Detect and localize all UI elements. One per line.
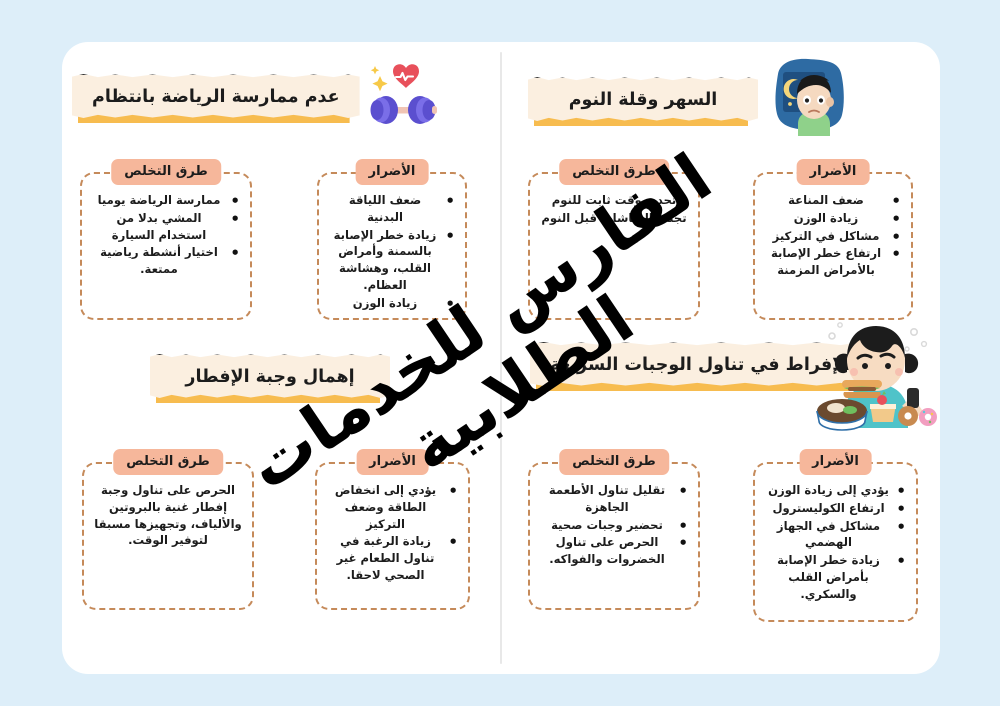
section-breakfast-header: إهمال وجبة الإفطار: [150, 354, 390, 398]
breakfast-fixes-label: طرق التخلص: [113, 449, 223, 475]
fastfood-fixes-label: طرق التخلص: [559, 449, 669, 475]
fastfood-harms-box: الأضرار يؤدي إلى زيادة الوزن ارتفاع الكو…: [753, 462, 918, 622]
fastfood-harms-list: يؤدي إلى زيادة الوزن ارتفاع الكوليسترول …: [765, 482, 906, 603]
sport-harms-list: ضعف اللياقة البدنية زيادة خطر الإصابة با…: [329, 192, 455, 312]
list-item: مشاكل في التركيز: [765, 228, 901, 245]
sleep-fixes-label: طرق التخلص: [559, 159, 669, 185]
list-item: زيادة الرغبة في تناول الطعام غير الصحي ل…: [327, 533, 458, 583]
list-item: ضعف اللياقة البدنية: [329, 192, 455, 226]
breakfast-harms-box: الأضرار يؤدي إلى انخفاض الطاقة وضعف التر…: [315, 462, 470, 610]
list-item: يؤدي إلى زيادة الوزن: [765, 482, 906, 499]
list-item: المشي بدلا من استخدام السيارة: [92, 210, 240, 244]
list-item: زيادة الوزن: [765, 210, 901, 227]
list-item: تقليل تناول الأطعمة الجاهزة: [540, 482, 688, 516]
list-item: ارتفاع الكوليسترول: [765, 500, 906, 517]
sleep-harms-label: الأضرار: [797, 159, 870, 185]
breakfast-harms-label: الأضرار: [356, 449, 429, 475]
section-sleep-header: السهر وقلة النوم: [528, 54, 850, 144]
section-sleep: السهر وقلة النوم طرق التخلص تحديد وقت ثا…: [500, 42, 940, 342]
section-breakfast-title: إهمال وجبة الإفطار: [185, 367, 354, 387]
section-fastfood: الإفراط في تناول الوجبات السريعة: [500, 342, 940, 674]
list-item: تجنب الشاشات قبل النوم: [540, 210, 688, 227]
sport-harms-box: الأضرار ضعف اللياقة البدنية زيادة خطر ال…: [317, 172, 467, 320]
section-breakfast-banner: إهمال وجبة الإفطار: [150, 354, 390, 398]
dumbbell-heart-icon: [366, 60, 438, 132]
list-item: الحرص على تناول الخضروات والفواكه.: [540, 534, 688, 568]
list-item: مشاكل في الجهاز الهضمي: [765, 518, 906, 552]
list-item: الحرص على تناول وجبة إفطار غنية بالبروتي…: [94, 482, 242, 549]
sleep-fixes-box: طرق التخلص تحديد وقت ثابت للنوم تجنب الش…: [528, 172, 700, 320]
girl-eating-burger-icon: [810, 316, 940, 435]
sleep-fixes-list: تحديد وقت ثابت للنوم تجنب الشاشات قبل ال…: [540, 192, 688, 227]
sport-fixes-label: طرق التخلص: [111, 159, 221, 185]
section-sleep-title: السهر وقلة النوم: [569, 90, 718, 110]
list-item: ممارسة الرياضة يوميا: [92, 192, 240, 209]
fastfood-fixes-list: تقليل تناول الأطعمة الجاهزة تحضير وجبات …: [540, 482, 688, 568]
sport-fixes-box: طرق التخلص ممارسة الرياضة يوميا المشي بد…: [80, 172, 252, 320]
breakfast-fixes-list: الحرص على تناول وجبة إفطار غنية بالبروتي…: [94, 482, 242, 549]
sleep-harms-list: ضعف المناعة زيادة الوزن مشاكل في التركيز…: [765, 192, 901, 279]
list-item: ضعف المناعة: [765, 192, 901, 209]
list-item: اختيار أنشطة رياضية ممتعة.: [92, 244, 240, 278]
sleep-harms-box: الأضرار ضعف المناعة زيادة الوزن مشاكل في…: [753, 172, 913, 320]
list-item: تحضير وجبات صحية: [540, 517, 688, 534]
section-fastfood-title: الإفراط في تناول الوجبات السريعة: [550, 355, 851, 375]
sport-fixes-list: ممارسة الرياضة يوميا المشي بدلا من استخد…: [92, 192, 240, 278]
section-sport-title: عدم ممارسة الرياضة بانتظام: [92, 87, 340, 107]
section-sleep-banner: السهر وقلة النوم: [528, 77, 758, 121]
section-sport: عدم ممارسة الرياضة بانتظام طرق التخلص مم…: [62, 42, 502, 342]
list-item: زيادة خطر الإصابة بالسمنة وأمراض القلب، …: [329, 227, 455, 294]
list-item: زيادة الوزن: [329, 295, 455, 312]
fastfood-harms-label: الأضرار: [799, 449, 872, 475]
list-item: يؤدي إلى انخفاض الطاقة وضعف التركيز: [327, 482, 458, 532]
section-breakfast: إهمال وجبة الإفطار طرق التخلص الحرص على …: [62, 342, 502, 674]
list-item: ارتفاع خطر الإصابة بالأمراض المزمنة: [765, 245, 901, 279]
fastfood-fixes-box: طرق التخلص تقليل تناول الأطعمة الجاهزة ت…: [528, 462, 700, 610]
section-sport-banner: عدم ممارسة الرياضة بانتظام: [72, 74, 360, 118]
list-item: زيادة خطر الإصابة بأمراض القلب والسكري.: [765, 552, 906, 602]
breakfast-fixes-box: طرق التخلص الحرص على تناول وجبة إفطار غن…: [82, 462, 254, 610]
sport-harms-label: الأضرار: [356, 159, 429, 185]
list-item: تحديد وقت ثابت للنوم: [540, 192, 688, 209]
sleepy-boy-night-icon: [764, 54, 850, 144]
breakfast-harms-list: يؤدي إلى انخفاض الطاقة وضعف التركيز زياد…: [327, 482, 458, 584]
section-sport-header: عدم ممارسة الرياضة بانتظام: [72, 60, 438, 132]
infographic-page: عدم ممارسة الرياضة بانتظام طرق التخلص مم…: [0, 0, 1000, 706]
